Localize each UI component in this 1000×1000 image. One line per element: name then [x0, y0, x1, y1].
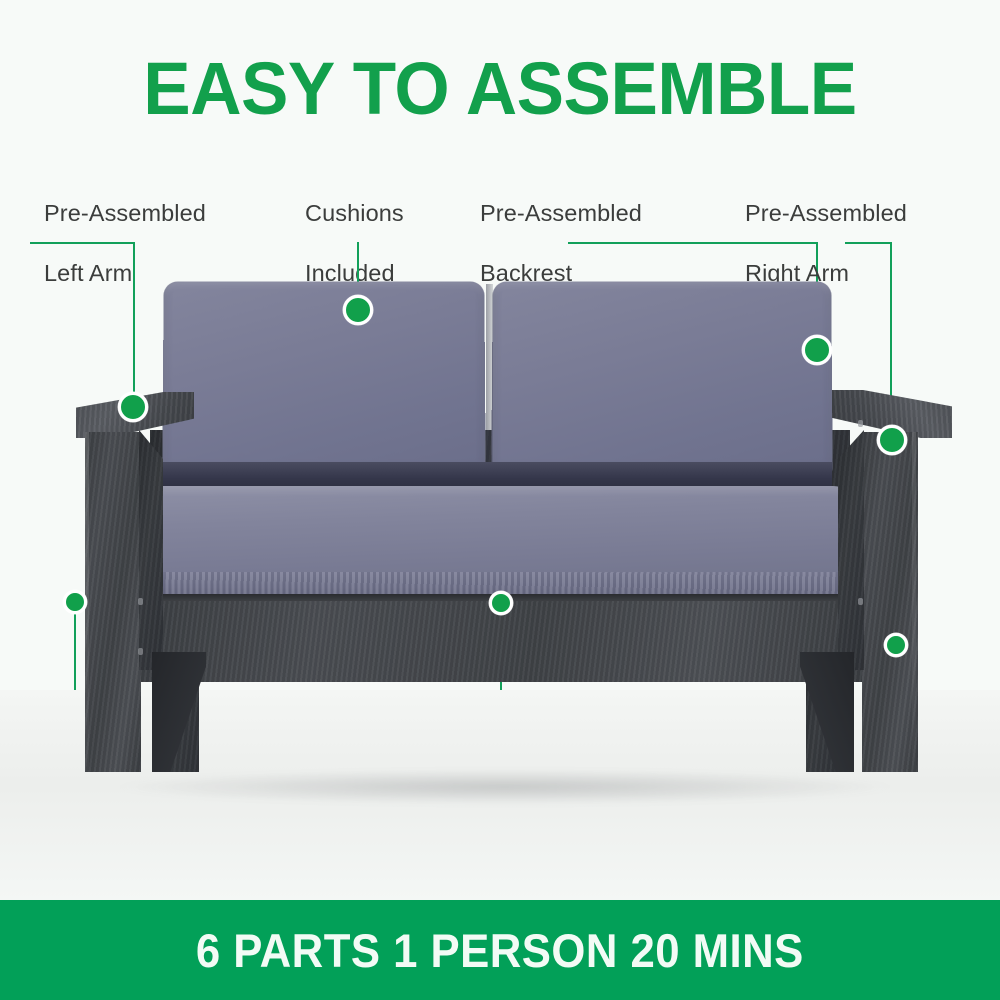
stainless-screw-right-lower [858, 420, 863, 427]
right-arm-edge-highlight [912, 432, 916, 772]
callout-dot-stainless-steel-accessories[interactable] [884, 633, 908, 657]
stainless-screw-left-lower [138, 648, 143, 655]
bottom-banner: 6 PARTS 1 PERSON 20 MINS [0, 900, 1000, 1000]
left-arm-inner-panel [139, 430, 163, 670]
callout-dot-pre-assembled-right-arm[interactable] [877, 425, 907, 455]
infographic-canvas: EASY TO ASSEMBLE [0, 0, 1000, 1000]
product-shadow [120, 770, 890, 804]
callout-dot-pre-assembled-seat-board[interactable] [489, 591, 513, 615]
left-arm-post [85, 432, 141, 772]
product-illustration-loveseat [0, 0, 1000, 900]
callout-dot-pre-drilled-holes[interactable] [63, 590, 87, 614]
stainless-screw-left-upper [138, 598, 143, 605]
backrest-cushion-left [162, 281, 485, 473]
callout-dot-pre-assembled-left-arm[interactable] [118, 392, 148, 422]
stainless-screw-right-upper [858, 598, 863, 605]
banner-text: 6 PARTS 1 PERSON 20 MINS [196, 927, 804, 974]
callout-dot-cushions-included[interactable] [343, 295, 373, 325]
backrest-seam [486, 284, 493, 472]
right-arm-post [862, 432, 918, 772]
callout-dot-pre-assembled-backrest[interactable] [802, 335, 832, 365]
backrest-cushion-right [491, 281, 832, 473]
right-arm-inner-panel [838, 430, 864, 670]
